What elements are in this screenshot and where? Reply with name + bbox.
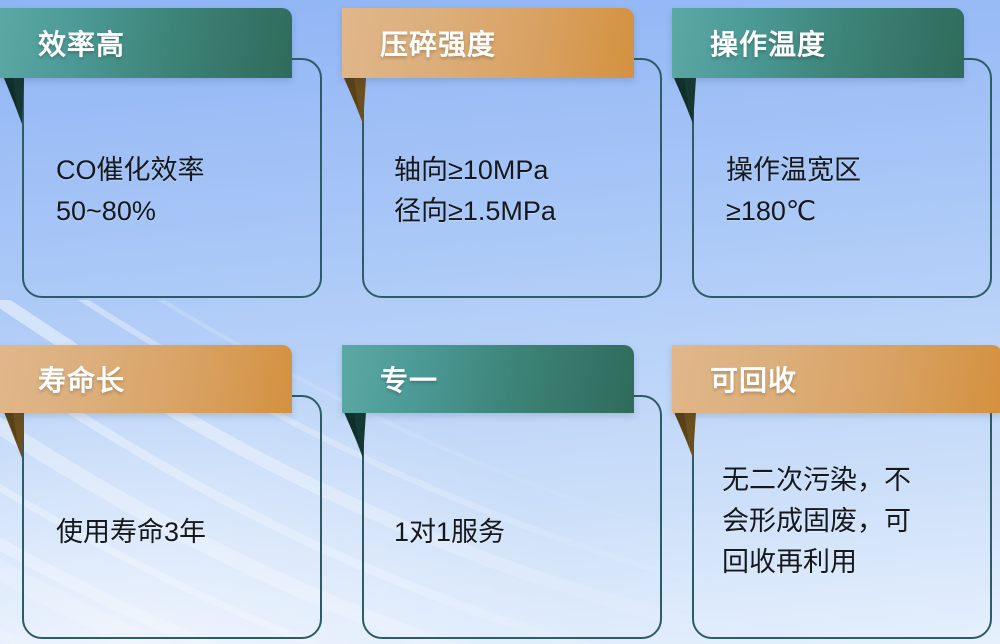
feature-card-board: 效率高 CO催化效率 50~80% 压碎强度 轴向≥10MPa 径向≥1.5MP… — [0, 0, 1000, 644]
card-header-ribbon: 专一 — [342, 345, 634, 413]
card-header-ribbon: 可回收 — [672, 345, 1000, 413]
card-grid: 效率高 CO催化效率 50~80% 压碎强度 轴向≥10MPa 径向≥1.5MP… — [0, 0, 1000, 644]
ribbon-fold-icon — [4, 78, 24, 124]
ribbon-fold-icon — [4, 412, 24, 458]
card-title: 操作温度 — [710, 23, 826, 63]
card-header-ribbon: 操作温度 — [672, 8, 964, 78]
card-title: 效率高 — [38, 23, 125, 63]
card-title: 专一 — [380, 359, 438, 399]
card-header-ribbon: 效率高 — [0, 8, 292, 78]
card-header-ribbon: 寿命长 — [0, 345, 292, 413]
card-title: 可回收 — [710, 359, 797, 399]
card-body-text: CO催化效率 50~80% — [56, 150, 306, 232]
card-body-text: 操作温宽区 ≥180℃ — [726, 150, 976, 232]
card-body-text: 无二次污染，不 会形成固废，可 回收再利用 — [722, 460, 988, 583]
card-body-text: 1对1服务 — [394, 512, 654, 553]
card-header-ribbon: 压碎强度 — [342, 8, 634, 78]
card-body-text: 使用寿命3年 — [56, 512, 316, 553]
ribbon-fold-icon — [674, 78, 694, 124]
ribbon-fold-icon — [344, 412, 364, 458]
card-title: 寿命长 — [38, 359, 125, 399]
ribbon-fold-icon — [674, 412, 694, 458]
card-title: 压碎强度 — [380, 23, 496, 63]
card-body-text: 轴向≥10MPa 径向≥1.5MPa — [394, 150, 654, 232]
ribbon-fold-icon — [344, 78, 364, 124]
